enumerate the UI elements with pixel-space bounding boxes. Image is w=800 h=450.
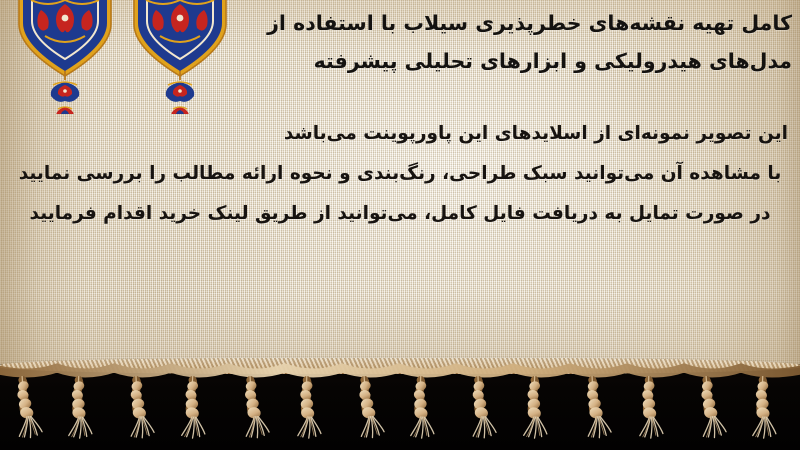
body-line-1: این تصویر نمونه‌ای از اسلایدهای این پاور… bbox=[8, 114, 792, 154]
tassel-row bbox=[15, 379, 778, 439]
fringe-tassel-group bbox=[0, 358, 800, 450]
carpet-fringe bbox=[0, 358, 800, 450]
slide-body: این تصویر نمونه‌ای از اسلایدهای این پاور… bbox=[8, 114, 792, 234]
title-line-2: مدل‌های هیدرولیکی و ابزارهای تحلیلی پیشر… bbox=[208, 42, 792, 80]
slide-text-layer: کامل تهیه نقشه‌های خطرپذیری سیلاب با است… bbox=[0, 0, 800, 366]
slide-canvas: کامل تهیه نقشه‌های خطرپذیری سیلاب با است… bbox=[0, 0, 800, 450]
body-line-3: در صورت تمایل به دریافت فایل کامل، می‌تو… bbox=[8, 194, 792, 234]
title-line-1: کامل تهیه نقشه‌های خطرپذیری سیلاب با است… bbox=[208, 4, 792, 42]
body-line-2: با مشاهده آن می‌توانید سبک طراحی، رنگ‌بن… bbox=[8, 154, 792, 194]
slide-title: کامل تهیه نقشه‌های خطرپذیری سیلاب با است… bbox=[208, 4, 792, 80]
